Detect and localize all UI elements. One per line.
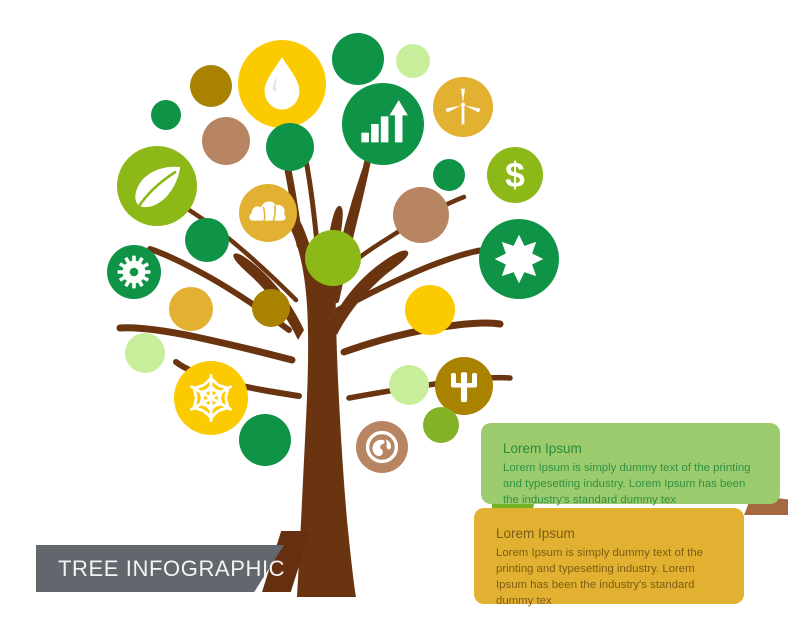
dot-lightgreen-3-dot xyxy=(389,365,429,405)
globe-circle[interactable] xyxy=(356,421,408,473)
dot-tan-1-dot xyxy=(202,117,250,165)
callout-gold[interactable]: Lorem Ipsum Lorem Ipsum is simply dummy … xyxy=(474,508,744,604)
node-dot-dark-gold-1 xyxy=(190,65,232,107)
infographic-canvas: $ Lorem Ipsum Lorem Ipsum is simply dumm… xyxy=(0,0,800,623)
node-snowflake[interactable] xyxy=(174,361,248,435)
page-title: TREE INFOGRAPHIC xyxy=(58,556,285,582)
node-cloud[interactable] xyxy=(239,184,297,242)
node-dot-green-small-1 xyxy=(151,100,181,130)
node-dot-yellow-1 xyxy=(405,285,455,335)
dot-green-2-dot xyxy=(266,123,314,171)
dot-tan-2-dot xyxy=(393,187,449,243)
node-wind-turbine[interactable] xyxy=(433,77,493,137)
node-dot-yellowgreen-1 xyxy=(423,407,459,443)
dot-olive-1-dot xyxy=(305,230,361,286)
node-dot-gold-1 xyxy=(169,287,213,331)
node-dot-lightgreen-3 xyxy=(389,365,429,405)
node-water-drop[interactable] xyxy=(238,40,326,128)
node-gear[interactable] xyxy=(107,245,161,299)
dot-dark-gold-1-dot xyxy=(190,65,232,107)
node-dot-green-4 xyxy=(185,218,229,262)
dot-gold-1-dot xyxy=(169,287,213,331)
node-dot-green-2 xyxy=(266,123,314,171)
node-dot-tan-1 xyxy=(202,117,250,165)
dollar-sign-icon: $ xyxy=(505,155,525,195)
node-leaf[interactable] xyxy=(117,146,197,226)
node-dot-olive-1 xyxy=(305,230,361,286)
node-dollar[interactable]: $ xyxy=(487,147,543,203)
callout-green-heading: Lorem Ipsum xyxy=(503,441,758,458)
callout-gold-heading: Lorem Ipsum xyxy=(496,526,722,543)
dot-darkgold-2-dot xyxy=(252,289,290,327)
callout-gold-body: Lorem Ipsum is simply dummy text of the … xyxy=(496,545,722,610)
node-sun[interactable] xyxy=(479,219,559,299)
dot-green-5-dot xyxy=(239,414,291,466)
node-dot-lightgreen-2 xyxy=(125,333,165,373)
node-cactus[interactable] xyxy=(435,357,493,415)
node-growth-chart[interactable] xyxy=(342,83,424,165)
node-dot-darkgold-2 xyxy=(252,289,290,327)
dot-green-3-dot xyxy=(433,159,465,191)
dot-green-small-1-dot xyxy=(151,100,181,130)
node-dot-tan-2 xyxy=(393,187,449,243)
sun-icon xyxy=(495,235,544,284)
node-dot-green-3 xyxy=(433,159,465,191)
node-dot-green-1 xyxy=(332,33,384,85)
node-dot-green-5 xyxy=(239,414,291,466)
node-globe[interactable] xyxy=(356,421,408,473)
dot-green-4-dot xyxy=(185,218,229,262)
dot-green-1-dot xyxy=(332,33,384,85)
callout-green[interactable]: Lorem Ipsum Lorem Ipsum is simply dummy … xyxy=(481,423,780,504)
dot-yellow-1-dot xyxy=(405,285,455,335)
svg-text:$: $ xyxy=(505,155,525,195)
node-dot-lightgreen-1 xyxy=(396,44,430,78)
callout-green-body: Lorem Ipsum is simply dummy text of the … xyxy=(503,460,758,509)
dot-lightgreen-1-dot xyxy=(396,44,430,78)
dot-yellowgreen-1-dot xyxy=(423,407,459,443)
dot-lightgreen-2-dot xyxy=(125,333,165,373)
